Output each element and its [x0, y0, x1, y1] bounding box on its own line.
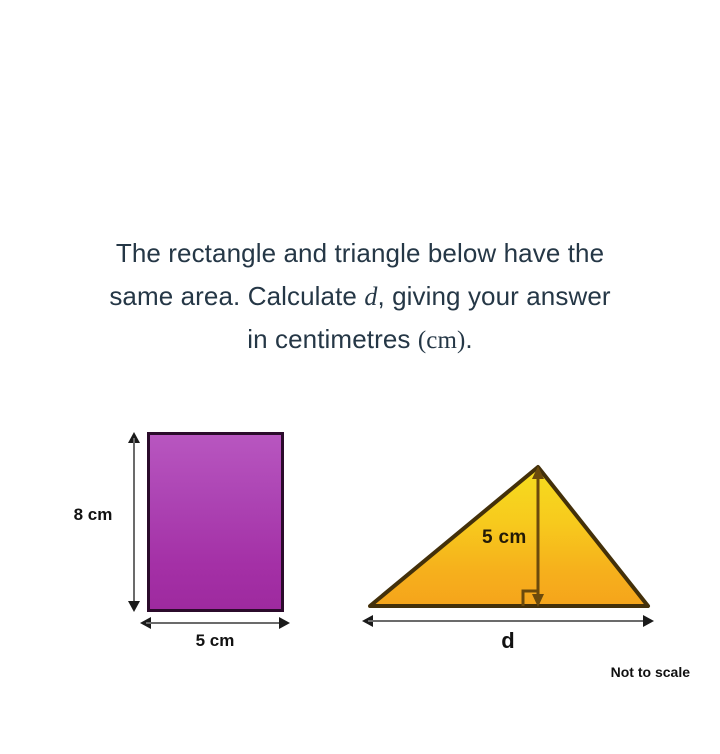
dimension-line-stroke: [146, 622, 284, 624]
question-line-1: The rectangle and triangle below have th…: [116, 238, 604, 268]
triangle-base-label: d: [362, 628, 654, 654]
unit-cm-inline: (cm): [418, 327, 466, 354]
arrowhead-right-icon: [279, 617, 290, 629]
question-line-2-post: , giving your answer: [377, 281, 610, 311]
rectangle-width-dimension-line: [140, 615, 290, 631]
dimension-line-stroke: [133, 438, 135, 606]
not-to-scale-note: Not to scale: [540, 664, 690, 680]
arrowhead-down-icon: [128, 601, 140, 612]
triangle-height-label: 5 cm: [482, 527, 527, 549]
question-line-3-post: .: [465, 324, 472, 354]
rectangle-height-label: 8 cm: [62, 505, 124, 525]
question-line-3-pre: in centimetres: [247, 324, 418, 354]
question-line-2-pre: same area. Calculate: [109, 281, 364, 311]
worksheet-page: The rectangle and triangle below have th…: [0, 0, 720, 754]
question-text: The rectangle and triangle below have th…: [40, 232, 680, 362]
triangle-base-dimension-line: [362, 613, 654, 629]
rectangle-height-dimension-line: [126, 432, 142, 612]
variable-d-inline: d: [364, 282, 377, 311]
rectangle-shape: [147, 432, 284, 612]
arrowhead-right-icon: [643, 615, 654, 627]
rectangle-width-label: 5 cm: [140, 631, 290, 651]
dimension-line-stroke: [368, 620, 648, 622]
